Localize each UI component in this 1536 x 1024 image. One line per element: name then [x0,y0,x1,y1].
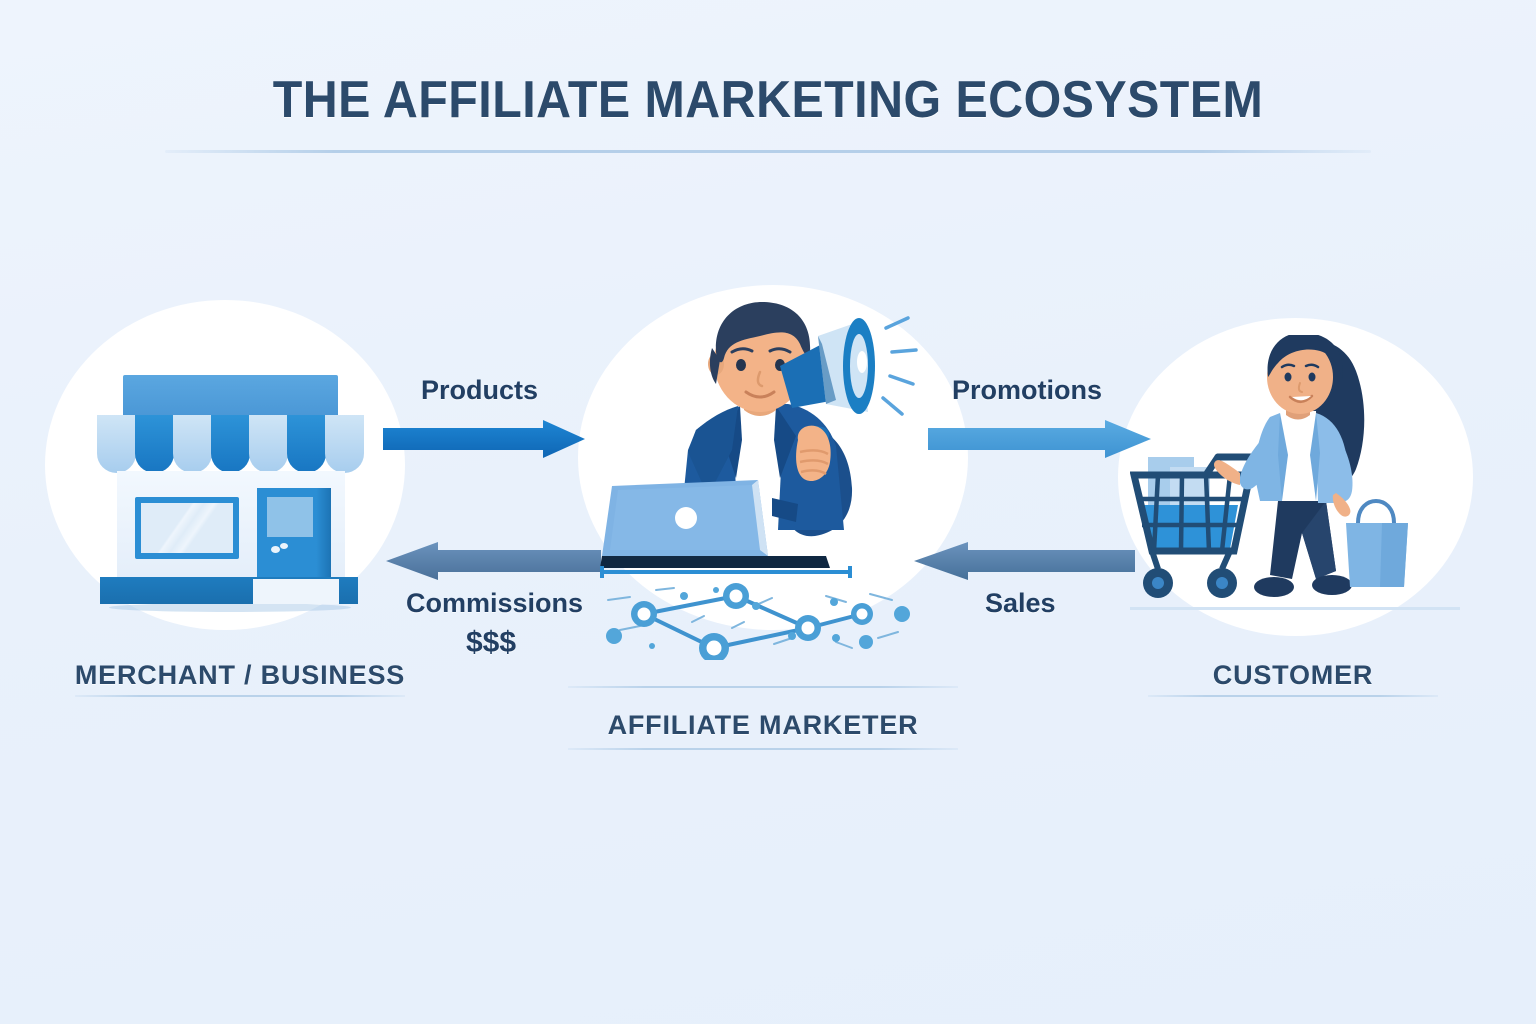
flow-label-promotions: Promotions [952,375,1102,406]
storefront-shadow [109,603,351,612]
storefront-door-knob [271,546,280,553]
customer-label-rule [1148,695,1438,697]
infographic-canvas: THE AFFILIATE MARKETING ECOSYSTEM Pr [0,0,1536,1024]
awning-scallop [211,415,250,473]
awning-scallop [97,415,136,473]
network-graph-decoration [596,578,936,660]
title-divider [165,150,1371,153]
storefront-door-glass [267,497,313,537]
storefront-awning [97,415,363,473]
flow-arrow-sales [910,540,1138,582]
flow-label-commissions: Commissions [406,588,583,619]
merchant-label-rule [75,695,405,697]
marketer-label-rule-top [568,686,958,688]
flow-arrow-promotions [925,418,1155,460]
flow-label-products: Products [421,375,538,406]
storefront-step [253,579,339,604]
storefront-door-knob [280,543,288,549]
marketer-label-rule-bottom [568,748,958,750]
flow-arrow-commissions [382,540,604,582]
awning-scallop [249,415,288,473]
storefront-window [135,497,239,559]
flow-arrow-products [380,420,590,460]
flow-label-commissions-money: $$$ [466,626,516,660]
node-label-marketer: AFFILIATE MARKETER [568,710,958,741]
page-title: THE AFFILIATE MARKETING ECOSYSTEM [54,70,1482,130]
node-label-merchant: MERCHANT / BUSINESS [73,660,407,691]
storefront-signboard [123,375,338,417]
storefront-door [257,488,331,580]
awning-scallop [325,415,364,473]
storefront-icon [95,375,365,610]
awning-scallop [173,415,212,473]
flow-label-sales: Sales [985,588,1056,619]
awning-scallop [287,415,326,473]
node-label-customer: CUSTOMER [1128,660,1458,691]
person-with-megaphone-icon [600,300,950,585]
storefront-window-glass [141,503,233,553]
awning-scallop [135,415,174,473]
woman-with-shopping-cart-icon [1130,335,1460,635]
